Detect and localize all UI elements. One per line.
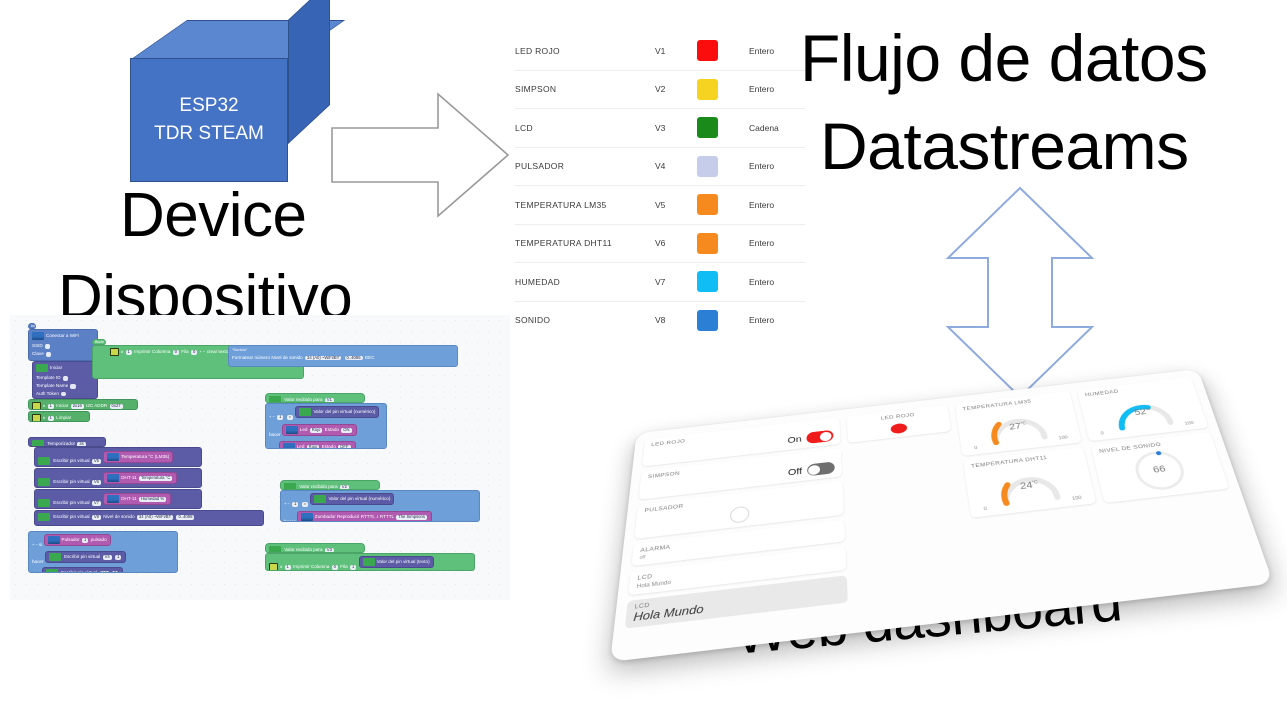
board-icon	[107, 453, 119, 461]
v6-pin-select[interactable]: V6	[92, 480, 101, 485]
datastream-pin: V4	[655, 161, 697, 171]
board-icon	[301, 513, 313, 521]
blynk-icon	[284, 483, 296, 490]
headline-flujo-de-datos: Flujo de datos	[800, 20, 1208, 96]
gauge-max: 100	[1058, 435, 1068, 441]
datastream-color	[697, 117, 749, 138]
widget-humedad: HUMEDAD 52% 0 100	[1077, 377, 1208, 441]
table-row[interactable]: TEMPERATURA DHT11 V6 Entero	[515, 225, 805, 264]
gauge-min: 0	[983, 507, 987, 512]
datastream-pin: V3	[655, 123, 697, 133]
sonido-pin-select[interactable]: 34 (A0) ~WiFi/BT	[137, 515, 173, 520]
datastream-color	[697, 271, 749, 292]
block-crear-texto[interactable]: “Sonido” Formatear número Nivel de sonid…	[228, 345, 458, 367]
blynk-icon	[363, 558, 375, 566]
blynk-icon	[32, 440, 44, 447]
pin-sonido-select[interactable]: 34 (A0) ~WiFi/BT	[305, 356, 341, 361]
lcd-index[interactable]: 1	[126, 350, 132, 355]
block-led-on[interactable]: Led Rojo Estado ON	[282, 424, 357, 436]
board-icon	[48, 536, 60, 544]
datastream-name: TEMPERATURA DHT11	[515, 238, 655, 248]
table-row[interactable]: PULSADOR V4 Entero	[515, 148, 805, 187]
block-escribir-v7[interactable]: Escribir pin virtual V7 DHT-11 Humedad %	[34, 489, 202, 509]
block-escribir-v5[interactable]: Escribir pin virtual V5 Temperatura °C (…	[34, 447, 202, 467]
template-id-field[interactable]	[63, 376, 68, 381]
lcd-icon	[269, 563, 278, 571]
datastream-name: SONIDO	[515, 315, 655, 325]
rango-field[interactable]: 0..4095	[345, 356, 363, 361]
gauge-lm35: 27°C	[983, 404, 1053, 447]
color-swatch	[697, 233, 718, 254]
led-state-off[interactable]: OFF	[338, 445, 350, 449]
datastream-type: Entero	[749, 161, 774, 171]
toggle-knob	[820, 431, 832, 441]
v1-num[interactable]: 1	[277, 415, 283, 420]
lcd-index[interactable]: 1	[48, 404, 54, 409]
datastream-name: HUMEDAD	[515, 277, 655, 287]
cube-side-face	[288, 0, 330, 144]
board-icon	[283, 443, 295, 449]
datastream-color	[697, 156, 749, 177]
table-row[interactable]: HUMEDAD V7 Entero	[515, 263, 805, 302]
block-v2-src[interactable]: Valor del pin virtual (numérico)	[310, 493, 394, 505]
datastream-color	[697, 79, 749, 100]
block-pulsador-sensor[interactable]: Pulsador 1 pulsado	[44, 534, 111, 546]
datastreams-table: LED ROJO V1 Entero SIMPSON V2 Entero LCD…	[515, 32, 805, 339]
led-rojo-toggle[interactable]	[806, 430, 833, 444]
blynk-icon	[46, 569, 58, 573]
datastream-name: LED ROJO	[515, 46, 655, 56]
board-icon	[286, 426, 298, 434]
blynk-icon	[314, 495, 326, 503]
v7-pin-select[interactable]: V7	[92, 501, 101, 506]
toggle-state-text: On	[788, 434, 802, 445]
datastream-type: Entero	[749, 238, 774, 248]
gauge-dht11: 24°C	[993, 461, 1067, 508]
blynk-icon	[299, 408, 311, 416]
blynk-icon	[36, 364, 48, 372]
toggle-knob	[808, 464, 820, 475]
datastream-color	[697, 40, 749, 61]
block-v3-body[interactable]: # 1 Imprimir Columna 0 Fila 1 Valor del …	[265, 553, 475, 571]
led-state-on[interactable]: ON	[341, 428, 351, 433]
v2-num[interactable]: 1	[292, 502, 298, 507]
block-escribir-v6[interactable]: Escribir pin virtual V6 DHT-11 Temperatu…	[34, 468, 202, 488]
block-pulsador-if[interactable]: + − si Pulsador 1 pulsado hacer Escribir…	[28, 531, 178, 573]
block-dht11-hum[interactable]: DHT-11 Humedad %	[103, 493, 171, 505]
sound-ring: 66	[1128, 447, 1192, 495]
datastream-pin: V6	[655, 238, 697, 248]
v5-pin-select[interactable]: V5	[92, 459, 101, 464]
template-name-field[interactable]	[70, 384, 75, 389]
color-swatch	[697, 40, 718, 61]
datastream-color	[697, 194, 749, 215]
lcd-icon	[110, 348, 119, 356]
board-icon	[107, 474, 119, 482]
simpson-toggle[interactable]	[807, 461, 835, 476]
table-row[interactable]: LCD V3 Cadena	[515, 109, 805, 148]
block-dht11-temp[interactable]: DHT-11 Temperatura °C	[103, 472, 177, 484]
led-indicator	[890, 423, 907, 434]
block-temporizador[interactable]: Temporizador 2s	[28, 437, 106, 447]
color-swatch	[697, 310, 718, 331]
toggle-state-text: Off	[788, 466, 802, 477]
gauge-max: 100	[1072, 496, 1082, 502]
cube-label: ESP32 TDR STEAM	[130, 58, 288, 182]
datastream-pin: V8	[655, 315, 697, 325]
block-led-off[interactable]: Led Rojo Estado OFF	[279, 441, 356, 449]
v2-cmp[interactable]: =	[302, 502, 308, 507]
table-row[interactable]: SONIDO V8 Entero	[515, 302, 805, 340]
board-icon	[107, 495, 119, 503]
datastream-name: SIMPSON	[515, 84, 655, 94]
color-swatch	[697, 79, 718, 100]
datastream-type: Entero	[749, 84, 774, 94]
widget-temp-lm35: TEMPERATURA LM35 27°C 0 100	[955, 391, 1082, 456]
datastream-type: Entero	[749, 277, 774, 287]
auth-token-field[interactable]	[61, 392, 66, 397]
v3-fila-field[interactable]: 1	[350, 565, 356, 570]
datastream-name: PULSADOR	[515, 161, 655, 171]
led-color-select[interactable]: Rojo	[310, 428, 323, 433]
music-note-icon: ♪	[376, 514, 379, 520]
blynk-icon	[38, 457, 50, 465]
block-v2-hat[interactable]: Valor recibido para V2	[280, 480, 380, 490]
block-escribir-v8[interactable]: Escribir pin virtual V8 Nivel de sonido …	[34, 510, 264, 526]
dashboard-column-led: LED ROJO	[847, 405, 976, 623]
puls-val-on[interactable]: 1	[115, 555, 121, 560]
color-swatch	[697, 156, 718, 177]
block-v1-hat[interactable]: Valor recibido para V1	[265, 393, 365, 403]
headline-datastreams: Datastreams	[820, 108, 1189, 184]
block-lcd-iniciar[interactable]: # 1 Iniciar 2x16 I2C ADDR 0x27	[28, 399, 138, 410]
block-v1-src[interactable]: Valor del pin virtual (numérico)	[295, 406, 379, 418]
lcd-icon	[32, 414, 41, 422]
datastream-name: TEMPERATURA LM35	[515, 200, 655, 210]
gauge-min: 0	[1100, 431, 1104, 436]
table-row[interactable]: LED ROJO V1 Entero	[515, 32, 805, 71]
datastream-pin: V5	[655, 200, 697, 210]
v8-pin-select[interactable]: V8	[92, 515, 101, 520]
block-puls-write-on[interactable]: Escribir pin virtual V4 1	[45, 551, 127, 563]
color-swatch	[697, 194, 718, 215]
lcd-icon	[32, 402, 41, 410]
web-dashboard-mock: LED ROJO On SIMPSON Off PULSADOR	[630, 370, 1270, 670]
song-select[interactable]: The Simpsons	[396, 515, 427, 520]
blynk-icon	[38, 513, 50, 521]
datastream-name: LCD	[515, 123, 655, 133]
v3-col-field[interactable]: 0	[332, 565, 338, 570]
block-lcd-limpiar[interactable]: # 1 Limpiar	[28, 411, 90, 422]
block-v3-hat[interactable]: Valor recibido para V3	[265, 543, 365, 553]
blockly-workspace[interactable]: Inicializar Conectar a WiFi SSID Clave I…	[10, 315, 510, 600]
puls-v4-select[interactable]: V4	[100, 571, 109, 573]
block-conectar-wifi[interactable]: Conectar a WiFi SSID Clave	[28, 329, 98, 361]
gauge-min: 0	[974, 446, 978, 451]
blynk-icon	[269, 546, 281, 553]
datastream-type: Entero	[749, 200, 774, 210]
table-row[interactable]: TEMPERATURA LM35 V5 Entero	[515, 186, 805, 225]
wifi-icon	[32, 332, 44, 340]
fila-field[interactable]: 0	[191, 350, 197, 355]
datastream-pin: V7	[655, 277, 697, 287]
datastream-type: Entero	[749, 46, 774, 56]
block-blynk-iniciar[interactable]: Iniciar Template ID Template Name Auth T…	[32, 361, 98, 399]
right-arrow-icon	[330, 92, 510, 218]
pulsador-pin[interactable]: 1	[82, 538, 88, 543]
cube-label-line1: ESP32	[179, 92, 238, 120]
up-down-arrow-icon	[945, 185, 1095, 400]
block-v3-src[interactable]: Valor del pin virtual (texto)	[359, 556, 434, 568]
lcd-addr-select[interactable]: 0x27	[110, 404, 123, 409]
esp32-device-cube: ESP32 TDR STEAM	[130, 20, 330, 182]
headline-device: Device	[120, 180, 307, 251]
blynk-icon	[38, 478, 50, 486]
table-row[interactable]: SIMPSON V2 Entero	[515, 71, 805, 110]
datastream-color	[697, 310, 749, 331]
dashboard-column-left: LED ROJO On SIMPSON Off PULSADOR	[622, 417, 848, 650]
block-zumbador[interactable]: Zumbador Reproducir RTTTL ♪ RTTTL The Si…	[297, 511, 432, 522]
sonido-rango-field[interactable]: 0..4095	[176, 515, 194, 520]
dht11-temp-select[interactable]: Temperatura °C	[139, 476, 172, 481]
gauge-max: 100	[1184, 421, 1194, 427]
datastream-pin: V2	[655, 84, 697, 94]
puls-v4-select[interactable]: V4	[103, 555, 112, 560]
dht11-hum-select[interactable]: Humedad %	[139, 497, 166, 502]
dashboard-surface: LED ROJO On SIMPSON Off PULSADOR	[610, 369, 1273, 662]
widget-label: LED ROJO	[853, 409, 942, 424]
datastream-pin: V1	[655, 46, 697, 56]
blynk-icon	[49, 553, 61, 561]
lcd-size-select[interactable]: 2x16	[71, 404, 84, 409]
datastream-type: Cadena	[749, 123, 779, 133]
blynk-icon	[38, 499, 50, 507]
datastream-type: Entero	[749, 315, 774, 325]
gauge-humedad: 52%	[1106, 390, 1179, 432]
led-color-select[interactable]: Rojo	[307, 445, 320, 449]
v1-cmp[interactable]: =	[287, 415, 293, 420]
color-swatch	[697, 117, 718, 138]
block-puls-write-off[interactable]: Escribir pin virtual V4 0	[42, 567, 124, 573]
lcd-index[interactable]: 1	[48, 416, 54, 421]
color-swatch	[697, 271, 718, 292]
block-lm35[interactable]: Temperatura °C (LM35)	[103, 451, 173, 463]
clave-field[interactable]	[46, 352, 51, 357]
widget-led-rojo-indicator: LED ROJO	[847, 405, 952, 443]
blynk-icon	[269, 396, 281, 403]
ssid-field[interactable]	[45, 344, 50, 349]
puls-val-off[interactable]: 0	[112, 571, 118, 573]
lcd-index[interactable]: 1	[285, 565, 291, 570]
widget-temp-dht11: TEMPERATURA DHT11 24°C 0 100	[963, 447, 1096, 518]
block-v1-if[interactable]: + − 1 = Valor del pin virtual (numérico)…	[265, 403, 387, 449]
cube-label-line2: TDR STEAM	[154, 120, 264, 148]
datastream-color	[697, 233, 749, 254]
col-field[interactable]: 0	[173, 350, 179, 355]
pulsador-button[interactable]	[730, 506, 750, 524]
widget-nivel-sonido: NIVEL DE SONIDO 66	[1091, 432, 1230, 503]
block-v2-if[interactable]: + − 1 = Valor del pin virtual (numérico)…	[280, 490, 480, 522]
